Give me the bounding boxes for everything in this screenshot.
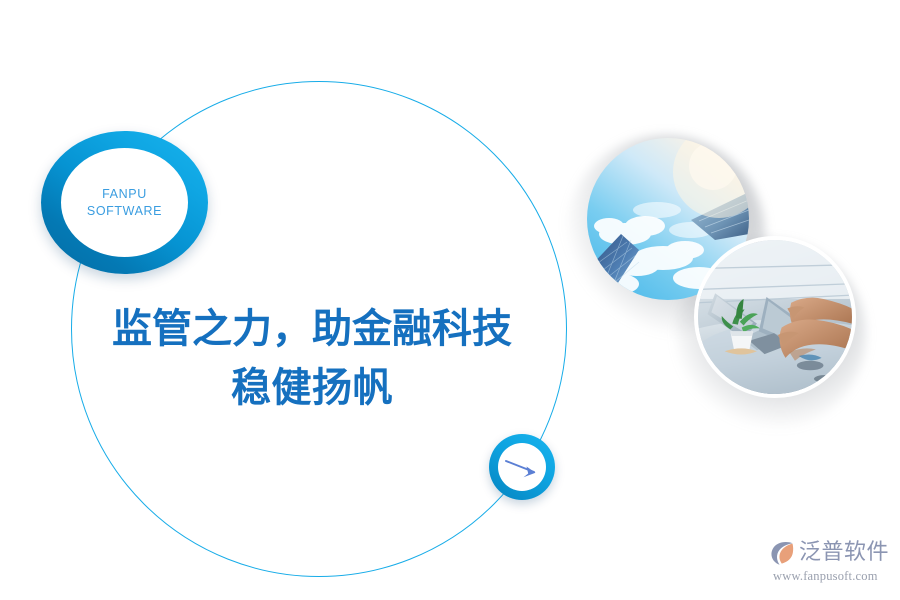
photo-laptop-desk bbox=[694, 236, 856, 398]
page-title-line-2: 稳健扬帆 bbox=[62, 359, 562, 418]
fanpu-software-badge: FANPU SOFTWARE bbox=[41, 131, 208, 274]
page-title-line-1: 监管之力，助金融科技 bbox=[62, 300, 562, 359]
fanpu-c-mark-icon bbox=[770, 540, 797, 567]
slide-canvas: FANPU SOFTWARE 监管之力，助金融科技 稳健扬帆 泛普软 bbox=[0, 0, 900, 600]
brand-url: www.fanpusoft.com bbox=[770, 568, 892, 584]
page-title: 监管之力，助金融科技 稳健扬帆 bbox=[62, 300, 562, 418]
fanpu-badge-label: FANPU SOFTWARE bbox=[87, 186, 162, 220]
brand-row: 泛普软件 bbox=[770, 538, 892, 568]
fanpu-brand-logo[interactable]: 泛普软件 www.fanpusoft.com bbox=[770, 538, 892, 586]
fanpu-badge-inner: FANPU SOFTWARE bbox=[61, 148, 188, 257]
brand-title-cn: 泛普软件 bbox=[799, 540, 889, 566]
arrow-right-icon bbox=[504, 454, 540, 480]
arrow-node[interactable] bbox=[489, 434, 555, 500]
arrow-node-inner bbox=[498, 443, 546, 491]
